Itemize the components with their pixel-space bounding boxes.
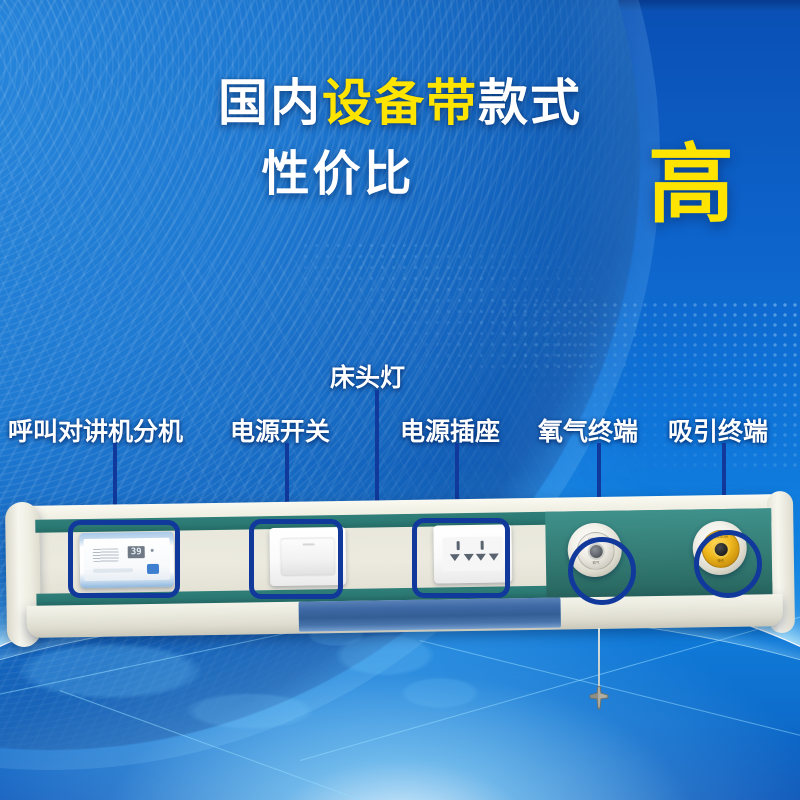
highlight-box-power-switch [249, 519, 343, 599]
pull-cord [598, 628, 600, 694]
highlight-box-power-socket [412, 518, 510, 598]
callout-label-power-socket: 电源插座 [400, 412, 500, 448]
headline-big-word: 高 [648, 142, 734, 228]
headline-highlight: 设备带 [322, 74, 478, 132]
highlight-circle-oxygen [568, 537, 636, 605]
promo-banner: 国内设备带款式 性价比 高 呼叫对讲机分机 电源开关 床头灯 电源插座 氧气终端… [0, 0, 800, 800]
headline-part-1: 国内 [218, 74, 322, 132]
headline-part-2: 款式 [478, 74, 582, 132]
highlight-box-intercom [68, 520, 180, 598]
callout-label-intercom: 呼叫对讲机分机 [8, 412, 183, 448]
halftone-dots-center [300, 240, 600, 370]
callout-label-power-switch: 电源开关 [230, 412, 330, 448]
headline-line-2: 性价比 [261, 150, 414, 198]
pull-cord-plug-icon [585, 686, 613, 710]
highlight-circle-suction [694, 530, 762, 598]
panel-rail-slider[interactable] [299, 598, 561, 632]
leader-line-intercom [113, 443, 117, 511]
callout-label-suction: 吸引终端 [668, 412, 768, 448]
callout-label-bed-lamp: 床头灯 [330, 358, 405, 394]
callout-label-oxygen: 氧气终端 [538, 412, 638, 448]
headline-line-1: 国内设备带款式 [0, 78, 800, 128]
